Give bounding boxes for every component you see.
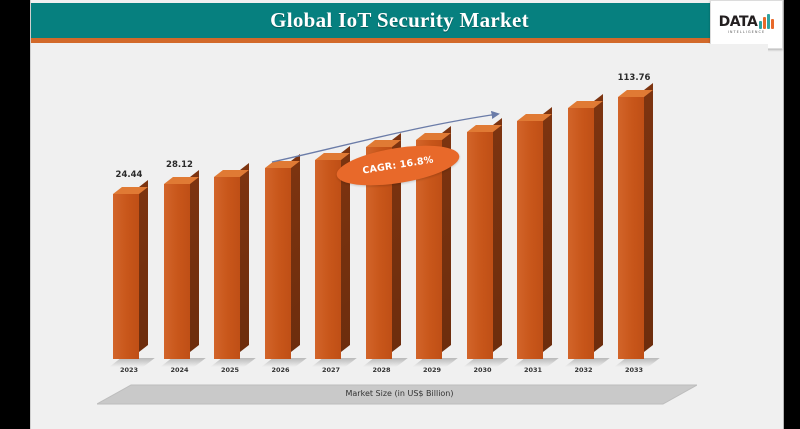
left-frame-border [0,0,30,429]
brand-logo: DATA INTELLIGENCE [710,0,783,49]
bar-front-face [315,160,341,359]
page-title: Global IoT Security Market [31,3,768,38]
right-frame-border [784,0,800,429]
cagr-label: CAGR: 16.8% [362,154,435,176]
bar-value-label-2033: 113.76 [604,73,664,83]
header-underline [31,38,768,43]
bar-value-label-2023: 24.44 [99,170,159,180]
bar-side-face [543,107,552,352]
chart-screenshot: Global IoT Security Market DATA INTELLIG… [0,0,800,429]
plot-area: 24.4428.12113.76 CAGR: 16.8% Market Size… [31,44,768,429]
x-axis-caption: Market Size (in US$ Billion) [31,389,768,398]
bar-side-face [139,180,148,352]
bar-chart-icon [759,14,774,29]
bar-side-face [190,170,199,352]
bar-front-face [265,168,291,359]
bar-side-face [644,83,653,352]
bar-side-face [240,163,249,352]
bar-front-face [113,194,139,359]
bar-front-face [214,177,240,359]
bar-front-face [568,108,594,359]
bar-front-face [618,97,644,359]
bar-series: 24.4428.12113.76 [31,44,768,384]
logo-subtitle: INTELLIGENCE [728,31,766,34]
logo-wordmark: DATA [719,15,758,29]
bar-value-label-2024: 28.12 [150,160,210,170]
x-tick-2033: 2033 [604,366,664,374]
bar-side-face [594,94,603,352]
bar-front-face [164,184,190,359]
